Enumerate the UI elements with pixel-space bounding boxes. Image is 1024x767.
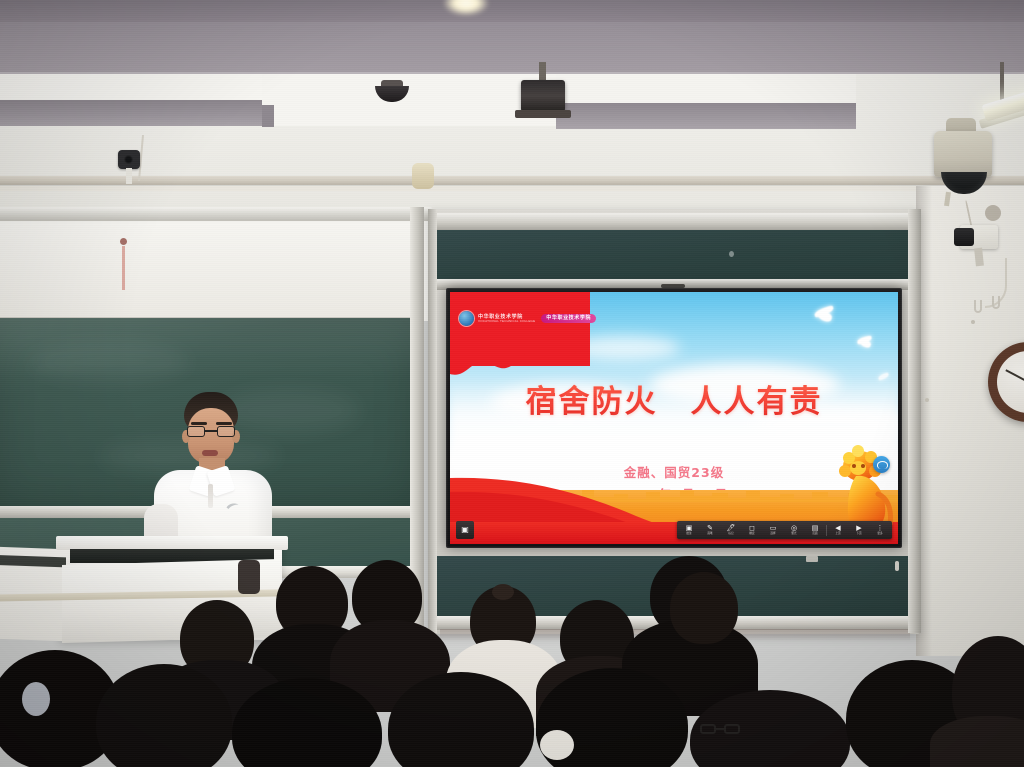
toolbar-item-annotate[interactable]: ▣ 批注 (679, 523, 699, 538)
wall-beam-middle (262, 105, 274, 127)
presentation-toolbar[interactable]: ▣ 批注 ✎ 画笔 🖊 标记 ◻ 橡皮 ▭ 选择 (677, 521, 892, 539)
ceiling-projector-icon (521, 80, 565, 112)
wall-beam-right (556, 103, 856, 129)
student-hair-bun (492, 584, 514, 600)
toolbar-item-pen[interactable]: ✎ 画笔 (700, 523, 720, 538)
toolbar-item-next[interactable]: ▶ 下页 (849, 523, 869, 538)
slide-title: 宿舍防火 人人有责 (450, 376, 898, 421)
toolbar-label-spotlight: 聚光 (791, 533, 796, 536)
school-name-en: VOCATIONAL TECHNICAL COLLEGE (478, 320, 535, 324)
menu-icon: ▣ (461, 526, 469, 534)
projector-base (515, 110, 571, 118)
wall-hook-2 (992, 296, 1000, 309)
toolbar-label-prev: 上页 (835, 533, 840, 536)
golden-lion-statue-icon (838, 444, 896, 530)
presenter-brow-left (191, 422, 207, 425)
toolbar-separator (826, 525, 827, 536)
toolbar-label-marker: 标记 (728, 533, 733, 536)
toolbar-item-select[interactable]: ▭ 选择 (763, 523, 783, 538)
clock-face (997, 351, 1024, 413)
right-board-left-post (428, 209, 437, 633)
more-icon: ⋮ (877, 525, 884, 532)
spotlight-icon: ◎ (791, 525, 797, 532)
student-head (670, 572, 738, 644)
toolbar-item-prev[interactable]: ◀ 上页 (828, 523, 848, 538)
slide-blue-badge-icon[interactable] (873, 456, 890, 473)
toolbar-label-select: 选择 (770, 533, 775, 536)
wall-fixture (412, 163, 434, 189)
student-eyeglasses-icon (700, 724, 740, 735)
hair-clip (22, 682, 50, 716)
eraser-icon: ◻ (749, 525, 755, 532)
polo-logo-icon (226, 502, 239, 510)
wall-screw (971, 320, 975, 324)
logo-pill-badge: 中华职业技术学院 (541, 314, 596, 322)
eyeglasses-icon (187, 426, 235, 437)
school-emblem-icon (459, 311, 474, 326)
wall-beam-left (0, 100, 266, 126)
marker-icon: 🖊 (727, 525, 736, 532)
lectern-top-edge (56, 536, 288, 550)
wall-camera-icon (118, 150, 140, 169)
toolbar-label-eraser: 橡皮 (749, 533, 754, 536)
board-marker-pen (895, 561, 899, 571)
toolbar-label-annotate: 批注 (686, 533, 691, 536)
left-board-top-rail (0, 207, 432, 221)
wall-fascia-left (0, 74, 262, 102)
right-board-upper-chalk (436, 230, 912, 280)
toolbar-item-pages[interactable]: ▤ 页面 (805, 523, 825, 538)
next-icon: ▶ (856, 525, 861, 532)
toolbar-label-pages: 页面 (812, 533, 817, 536)
toolbar-label-more: 更多 (877, 533, 882, 536)
board-sticker (806, 556, 818, 562)
school-logo-text: 中华职业技术学院 VOCATIONAL TECHNICAL COLLEGE (478, 314, 535, 324)
lectern-side-top (0, 555, 66, 568)
board-magnet (120, 238, 127, 245)
student-body (930, 716, 1024, 767)
right-wall (916, 186, 1024, 656)
cup (540, 730, 574, 760)
select-icon: ▭ (770, 525, 777, 532)
ptz-dome-camera-icon (934, 131, 992, 177)
presenter-placket (208, 484, 213, 508)
wall-hook-1 (974, 300, 982, 313)
presenter-brow-right (216, 422, 232, 425)
box-camera-bracket (985, 205, 1001, 221)
wall-rail (0, 176, 1024, 185)
wall-fascia-middle (262, 74, 562, 126)
toolbar-item-marker[interactable]: 🖊 标记 (721, 523, 741, 538)
wall-fascia-right (556, 74, 856, 104)
right-board-mark (729, 251, 734, 257)
wall-rail-lower (0, 186, 1024, 191)
presentation-slide: 中华职业技术学院 VOCATIONAL TECHNICAL COLLEGE 中华… (450, 292, 898, 544)
logo-pill-text: 中华职业技术学院 (546, 315, 591, 321)
board-mark (122, 246, 125, 290)
pen-icon: ✎ (707, 525, 713, 532)
annotate-icon: ▣ (686, 525, 693, 532)
wall-mark (925, 398, 929, 402)
toolbar-item-eraser[interactable]: ◻ 橡皮 (742, 523, 762, 538)
right-board-right-post (908, 209, 921, 633)
classroom-photo: 中华职业技术学院 VOCATIONAL TECHNICAL COLLEGE 中华… (0, 0, 1024, 767)
right-board-top-rail (432, 213, 916, 230)
interactive-display[interactable]: 中华职业技术学院 VOCATIONAL TECHNICAL COLLEGE 中华… (446, 288, 902, 548)
toolbar-label-next: 下页 (856, 533, 861, 536)
box-camera-lens (954, 228, 974, 246)
toolbar-label-pen: 画笔 (707, 533, 712, 536)
left-board-white-panel (0, 223, 422, 319)
prev-icon: ◀ (835, 525, 840, 532)
clock-minute-hand (1005, 370, 1024, 383)
school-logo: 中华职业技术学院 VOCATIONAL TECHNICAL COLLEGE 中华… (459, 311, 596, 326)
toolbar-item-more[interactable]: ⋮ 更多 (870, 523, 890, 538)
ceiling-beam (0, 0, 1024, 22)
wall-camera-mount (126, 168, 132, 184)
pages-icon: ▤ (812, 525, 819, 532)
phone-icon (238, 560, 260, 594)
toolbar-item-spotlight[interactable]: ◎ 聚光 (784, 523, 804, 538)
toolbar-menu-button[interactable]: ▣ (456, 521, 474, 539)
presenter-mouth (202, 450, 218, 456)
